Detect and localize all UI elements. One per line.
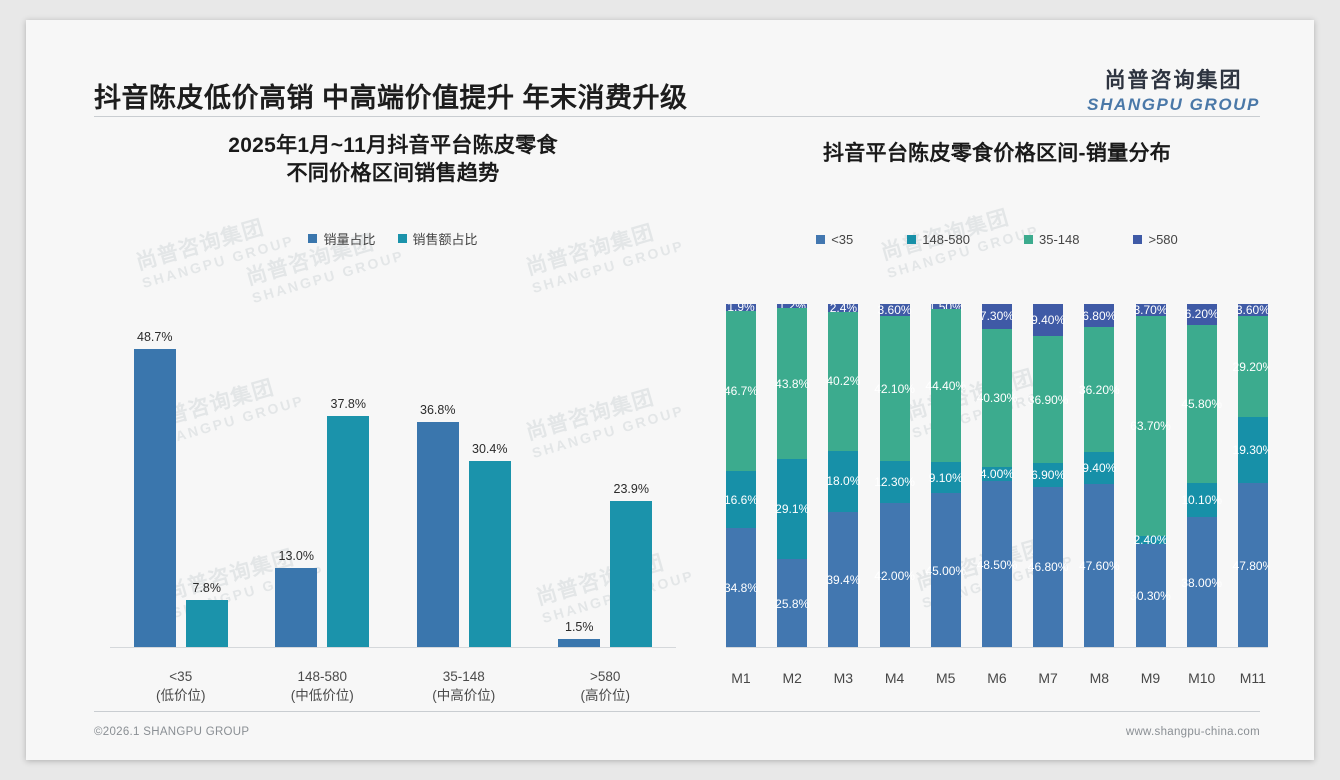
stacked-segment-label: 34.8% <box>726 581 758 595</box>
stacked-segment-label: 3.60% <box>1236 304 1268 317</box>
left-chart-title-line1: 2025年1月~11月抖音平台陈皮零食 <box>88 132 698 160</box>
x-tick-sublabel: (中高价位) <box>393 686 535 706</box>
bar-revenue-share[interactable]: 7.8% <box>186 310 228 648</box>
legend-item-revenue-share[interactable]: 销售额占比 <box>398 229 478 248</box>
x-axis-tick: M9 <box>1136 670 1166 686</box>
stacked-segment-label: 43.8% <box>775 377 809 391</box>
stacked-x-axis: M1M2M3M4M5M6M7M8M9M10M11 <box>726 670 1268 686</box>
legend-item-gt580[interactable]: >580 <box>1133 232 1177 247</box>
stacked-segment: 46.7% <box>726 311 756 472</box>
x-axis-tick: M5 <box>931 670 961 686</box>
grouped-axis-line <box>110 647 676 648</box>
bar-value-label: 37.8% <box>331 397 366 411</box>
stacked-segment: 2.4% <box>828 304 858 312</box>
stacked-segment: 9.10% <box>931 462 961 493</box>
bar-fill <box>327 416 369 648</box>
right-chart-legend: <35 148-580 35-148 >580 <box>716 232 1278 247</box>
stacked-axis-line <box>726 647 1268 648</box>
legend-label-148-580: 148-580 <box>922 232 970 247</box>
stacked-segment: 36.90% <box>1033 336 1063 463</box>
legend-item-lt35[interactable]: <35 <box>816 232 853 247</box>
stacked-segment-label: 48.50% <box>977 558 1018 572</box>
bar-revenue-share[interactable]: 23.9% <box>610 310 652 648</box>
bar-group: 48.7%7.8% <box>110 310 252 648</box>
stacked-segment: 9.40% <box>1084 452 1114 484</box>
logo-english-text: SHANGPU GROUP <box>1087 95 1260 115</box>
x-axis-tick: <35(低价位) <box>110 667 252 706</box>
stacked-segment: 18.0% <box>828 451 858 513</box>
legend-swatch-revenue-share <box>398 234 407 243</box>
bar-value-label: 30.4% <box>472 442 507 456</box>
stacked-segment: 63.70% <box>1136 316 1166 535</box>
stacked-segment: 46.80% <box>1033 487 1063 648</box>
x-tick-label: 35-148 <box>443 669 485 684</box>
x-axis-tick: M2 <box>777 670 807 686</box>
stacked-segment-label: 29.1% <box>775 502 809 516</box>
stacked-segment-label: 30.30% <box>1130 589 1171 603</box>
stacked-segment: 40.2% <box>828 312 858 450</box>
bar-volume-share[interactable]: 13.0% <box>275 310 317 648</box>
legend-swatch-volume-share <box>308 234 317 243</box>
stacked-segment-label: 3.60% <box>878 304 912 317</box>
x-tick-sublabel: (低价位) <box>110 686 252 706</box>
stacked-bar-column[interactable]: 3.60%29.20%19.30%47.80% <box>1238 304 1268 648</box>
stacked-bar-column[interactable]: 6.20%45.80%10.10%38.00% <box>1187 304 1217 648</box>
stacked-segment-label: 7.30% <box>980 309 1014 323</box>
legend-swatch-lt35 <box>816 235 825 244</box>
stacked-segment: 40.30% <box>982 329 1012 468</box>
stacked-segment: 6.20% <box>1187 304 1217 325</box>
stacked-segment: 48.50% <box>982 481 1012 648</box>
x-axis-tick: >580(高价位) <box>535 667 677 706</box>
stacked-segment-label: 47.80% <box>1233 559 1268 573</box>
legend-label-revenue-share: 销售额占比 <box>413 229 478 248</box>
stacked-segment: 10.10% <box>1187 483 1217 518</box>
left-chart-legend: 销量占比 销售额占比 <box>88 229 698 248</box>
bar-revenue-share[interactable]: 37.8% <box>327 310 369 648</box>
stacked-segment-label: 18.0% <box>826 474 860 488</box>
bar-value-label: 13.0% <box>279 549 314 563</box>
stacked-bar-column[interactable]: 1.9%46.7%16.6%34.8% <box>726 304 756 648</box>
left-chart-title-line2: 不同价格区间销售趋势 <box>88 160 698 188</box>
stacked-segment-label: 19.30% <box>1233 443 1268 457</box>
stacked-segment: 3.70% <box>1136 304 1166 316</box>
legend-swatch-148-580 <box>907 235 916 244</box>
stacked-bar-column[interactable]: 7.30%40.30%4.00%48.50% <box>982 304 1012 648</box>
stacked-bar-column[interactable]: 9.40%36.90%6.90%46.80% <box>1033 304 1063 648</box>
bar-fill <box>417 422 459 648</box>
bar-value-label: 23.9% <box>614 482 649 496</box>
chart-panel-right: 抖音平台陈皮零食价格区间-销量分布 <35 148-580 35-148 >58… <box>716 132 1278 712</box>
stacked-segment-label: 3.70% <box>1133 304 1167 317</box>
stacked-segment-label: 45.00% <box>925 564 966 578</box>
stacked-segment-label: 38.00% <box>1181 576 1222 590</box>
stacked-segment: 6.80% <box>1084 304 1114 327</box>
x-axis-tick: M11 <box>1238 670 1268 686</box>
x-axis-tick: M8 <box>1084 670 1114 686</box>
legend-item-148-580[interactable]: 148-580 <box>907 232 970 247</box>
brand-logo: 尚普咨询集团 SHANGPU GROUP <box>1087 64 1260 115</box>
stacked-segment-label: 42.00% <box>874 569 915 583</box>
bar-volume-share[interactable]: 36.8% <box>417 310 459 648</box>
stacked-bar-column[interactable]: 3.60%42.10%12.30%42.00% <box>880 304 910 648</box>
bar-fill <box>275 568 317 648</box>
x-axis-tick: M1 <box>726 670 756 686</box>
stacked-segment-label: 44.40% <box>925 379 966 393</box>
stacked-segment-label: 39.4% <box>826 573 860 587</box>
x-tick-sublabel: (高价位) <box>535 686 677 706</box>
x-axis-tick: M6 <box>982 670 1012 686</box>
x-axis-tick: 148-580(中低价位) <box>252 667 394 706</box>
stacked-segment-label: 9.10% <box>929 471 963 485</box>
stacked-segment-label: 40.2% <box>826 374 860 388</box>
stacked-bar-column[interactable]: 6.80%36.20%9.40%47.60% <box>1084 304 1114 648</box>
stacked-segment: 3.60% <box>880 304 910 316</box>
page-title: 抖音陈皮低价高销 中高端价值提升 年末消费升级 <box>94 76 688 115</box>
stacked-segment-label: 4.00% <box>980 467 1014 481</box>
stacked-segment-label: 12.30% <box>874 475 915 489</box>
slide-header: 抖音陈皮低价高销 中高端价值提升 年末消费升级 尚普咨询集团 SHANGPU G… <box>26 20 1314 116</box>
x-tick-label: >580 <box>590 669 620 684</box>
bar-volume-share[interactable]: 1.5% <box>558 310 600 648</box>
footer-divider <box>94 711 1260 712</box>
stacked-segment: 29.20% <box>1238 316 1268 417</box>
stacked-bar-chart: 1.9%46.7%16.6%34.8%1.2%43.8%29.1%25.8%2.… <box>716 304 1278 704</box>
legend-label-volume-share: 销量占比 <box>323 229 375 248</box>
x-axis-tick: M10 <box>1187 670 1217 686</box>
legend-swatch-gt580 <box>1133 235 1142 244</box>
stacked-segment-label: 16.6% <box>726 493 758 507</box>
stacked-segment-label: 25.8% <box>775 597 809 611</box>
x-tick-label: 148-580 <box>297 669 347 684</box>
stacked-segment: 2.40% <box>1136 536 1166 544</box>
bar-fill <box>186 600 228 648</box>
x-axis-tick: M3 <box>828 670 858 686</box>
x-axis-tick: M7 <box>1033 670 1063 686</box>
grouped-plot-area: 48.7%7.8%13.0%37.8%36.8%30.4%1.5%23.9% <box>110 310 676 648</box>
stacked-segment-label: 6.20% <box>1185 307 1219 321</box>
stacked-segment: 34.8% <box>726 528 756 648</box>
legend-label-35-148: 35-148 <box>1039 232 1079 247</box>
right-chart-title: 抖音平台陈皮零食价格区间-销量分布 <box>716 132 1278 168</box>
left-chart-title: 2025年1月~11月抖音平台陈皮零食 不同价格区间销售趋势 <box>88 132 698 189</box>
bar-group: 36.8%30.4% <box>393 310 535 648</box>
bar-value-label: 1.5% <box>565 620 594 634</box>
stacked-segment-label: 29.20% <box>1233 360 1268 374</box>
stacked-segment: 39.4% <box>828 512 858 648</box>
grouped-bar-chart: 48.7%7.8%13.0%37.8%36.8%30.4%1.5%23.9% <… <box>88 310 698 710</box>
chart-panel-left: 2025年1月~11月抖音平台陈皮零食 不同价格区间销售趋势 销量占比 销售额占… <box>88 132 698 712</box>
stacked-segment: 19.30% <box>1238 417 1268 483</box>
stacked-segment: 42.10% <box>880 316 910 461</box>
stacked-segment: 29.1% <box>777 459 807 559</box>
stacked-segment-label: 6.90% <box>1031 468 1065 482</box>
stacked-bar-column[interactable]: 3.70%63.70%2.40%30.30% <box>1136 304 1166 648</box>
stacked-segment: 6.90% <box>1033 463 1063 487</box>
slide-canvas: 尚普咨询集团SHANGPU GROUP 尚普咨询集团SHANGPU GROUP … <box>26 20 1314 760</box>
stacked-segment: 45.00% <box>931 493 961 648</box>
footer-copyright: ©2026.1 SHANGPU GROUP <box>94 726 249 738</box>
stacked-segment: 38.00% <box>1187 517 1217 648</box>
stacked-bar-column[interactable]: 2.4%40.2%18.0%39.4% <box>828 304 858 648</box>
legend-label-gt580: >580 <box>1148 232 1177 247</box>
stacked-segment-label: 42.10% <box>874 382 915 396</box>
stacked-segment-label: 36.20% <box>1079 383 1120 397</box>
bar-fill <box>134 349 176 648</box>
stacked-segment: 3.60% <box>1238 304 1268 316</box>
stacked-segment: 30.30% <box>1136 544 1166 648</box>
legend-swatch-35-148 <box>1024 235 1033 244</box>
stacked-segment: 44.40% <box>931 309 961 462</box>
stacked-segment: 47.80% <box>1238 483 1268 648</box>
legend-item-volume-share[interactable]: 销量占比 <box>308 229 375 248</box>
stacked-segment: 43.8% <box>777 308 807 459</box>
stacked-segment: 25.8% <box>777 559 807 648</box>
stacked-segment-label: 6.80% <box>1082 309 1116 323</box>
stacked-bar-column[interactable]: 1.2%43.8%29.1%25.8% <box>777 304 807 648</box>
stacked-segment: 4.00% <box>982 467 1012 481</box>
legend-item-35-148[interactable]: 35-148 <box>1024 232 1079 247</box>
x-axis-tick: 35-148(中高价位) <box>393 667 535 706</box>
bar-fill <box>610 501 652 648</box>
stacked-segment: 12.30% <box>880 461 910 503</box>
logo-chinese-text: 尚普咨询集团 <box>1087 64 1260 94</box>
x-tick-sublabel: (中低价位) <box>252 686 394 706</box>
stacked-plot-area: 1.9%46.7%16.6%34.8%1.2%43.8%29.1%25.8%2.… <box>726 304 1268 648</box>
bar-group: 1.5%23.9% <box>535 310 677 648</box>
bar-value-label: 48.7% <box>137 330 172 344</box>
legend-label-lt35: <35 <box>831 232 853 247</box>
stacked-segment-label: 36.90% <box>1028 393 1069 407</box>
stacked-segment: 45.80% <box>1187 325 1217 483</box>
stacked-segment: 7.30% <box>982 304 1012 329</box>
stacked-segment-label: 46.7% <box>726 384 758 398</box>
x-axis-tick: M4 <box>880 670 910 686</box>
stacked-segment-label: 46.80% <box>1028 560 1069 574</box>
stacked-segment-label: 45.80% <box>1181 397 1222 411</box>
stacked-segment: 16.6% <box>726 471 756 528</box>
x-tick-label: <35 <box>169 669 192 684</box>
footer-website: www.shangpu-china.com <box>1126 726 1260 738</box>
bar-value-label: 7.8% <box>193 581 222 595</box>
stacked-segment: 36.20% <box>1084 327 1114 452</box>
stacked-segment: 42.00% <box>880 503 910 647</box>
stacked-segment-label: 63.70% <box>1130 419 1171 433</box>
bar-volume-share[interactable]: 48.7% <box>134 310 176 648</box>
header-divider <box>94 116 1260 117</box>
stacked-segment-label: 9.40% <box>1031 313 1065 327</box>
stacked-segment-label: 10.10% <box>1181 493 1222 507</box>
bar-fill <box>469 461 511 648</box>
stacked-segment-label: 40.30% <box>977 391 1018 405</box>
stacked-bar-column[interactable]: 1.50%44.40%9.10%45.00% <box>931 304 961 648</box>
stacked-segment: 9.40% <box>1033 304 1063 336</box>
stacked-segment-label: 9.40% <box>1082 461 1116 475</box>
bar-group: 13.0%37.8% <box>252 310 394 648</box>
stacked-segment-label: 47.60% <box>1079 559 1120 573</box>
bar-value-label: 36.8% <box>420 403 455 417</box>
stacked-segment: 47.60% <box>1084 484 1114 648</box>
bar-revenue-share[interactable]: 30.4% <box>469 310 511 648</box>
